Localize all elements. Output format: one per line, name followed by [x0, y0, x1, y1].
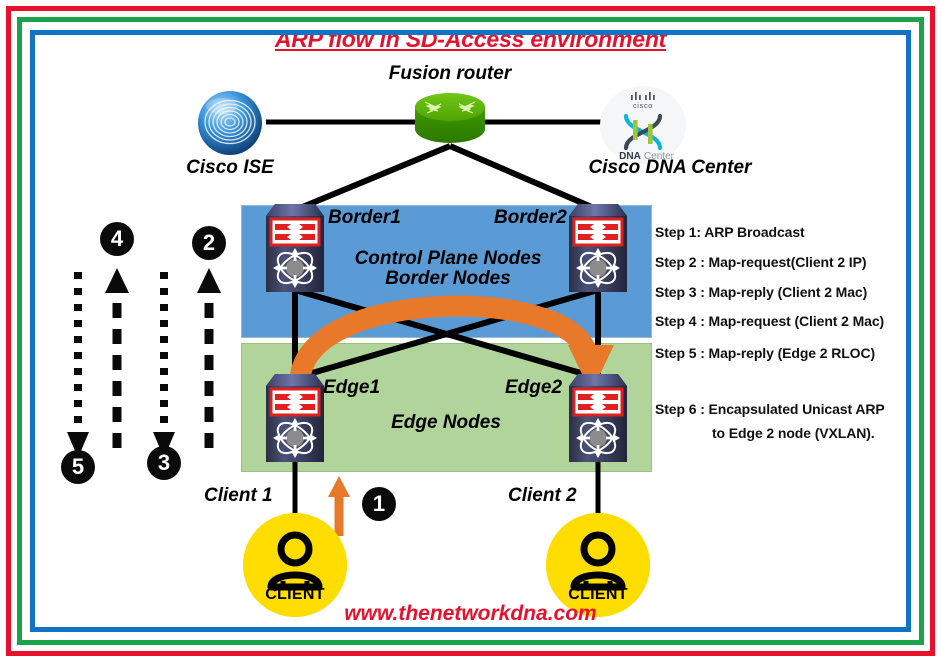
fusion-router-label: Fusion router	[350, 63, 550, 85]
client1-label: Client 1	[204, 485, 273, 507]
router-cylinder-icon	[413, 93, 487, 145]
switch-router-icon-border2	[569, 204, 627, 292]
badge-step-5: 5	[61, 450, 95, 484]
border2-label: Border2	[494, 207, 567, 229]
badge-step-4: 4	[100, 222, 134, 256]
zone-edge-label: Edge Nodes	[341, 412, 551, 434]
badge-step-3-number: 3	[147, 446, 181, 480]
badge-step-3: 3	[147, 446, 181, 480]
badge-step-2-number: 2	[192, 226, 226, 260]
edge1-label: Edge1	[323, 377, 380, 399]
badge-step-4-number: 4	[100, 222, 134, 256]
cisco-ise-label: Cisco ISE	[150, 157, 310, 179]
footer-url: www.thenetworkdna.com	[0, 602, 941, 626]
badge-step-5-number: 5	[61, 450, 95, 484]
badge-step-1: 1	[362, 487, 396, 521]
svg-text:cisco: cisco	[633, 101, 653, 110]
switch-router-icon-border1	[266, 204, 324, 292]
edge2-label: Edge2	[505, 377, 562, 399]
page-title: ARP flow in SD-Access environment	[0, 26, 941, 53]
badge-step-2: 2	[192, 226, 226, 260]
switch-router-icon-edge2	[569, 374, 627, 462]
diagram-canvas: Fusion router Cisco ISE	[0, 0, 941, 662]
legend-step-3: Step 3 : Map-reply (Client 2 Mac)	[655, 284, 867, 300]
legend-step-1: Step 1: ARP Broadcast	[655, 224, 805, 240]
legend-step-6-cont: to Edge 2 node (VXLAN).	[712, 425, 875, 441]
border1-label: Border1	[328, 207, 401, 229]
zone-border-nodes-label: Border Nodes	[333, 268, 563, 290]
legend-step-5: Step 5 : Map-reply (Edge 2 RLOC)	[655, 345, 875, 361]
legend-step-2: Step 2 : Map-request(Client 2 IP)	[655, 254, 866, 270]
zone-control-plane-label: Control Plane Nodes	[333, 248, 563, 270]
switch-router-icon-edge1	[266, 374, 324, 462]
client2-label: Client 2	[508, 485, 577, 507]
dna-helix-icon: cisco DNA Center	[600, 86, 686, 164]
badge-step-1-number: 1	[362, 487, 396, 521]
legend-step-6: Step 6 : Encapsulated Unicast ARP	[655, 401, 885, 417]
cisco-dna-center-label: Cisco DNA Center	[545, 157, 795, 179]
fingerprint-sphere-icon	[196, 89, 264, 157]
legend-step-4: Step 4 : Map-request (Client 2 Mac)	[655, 313, 884, 329]
